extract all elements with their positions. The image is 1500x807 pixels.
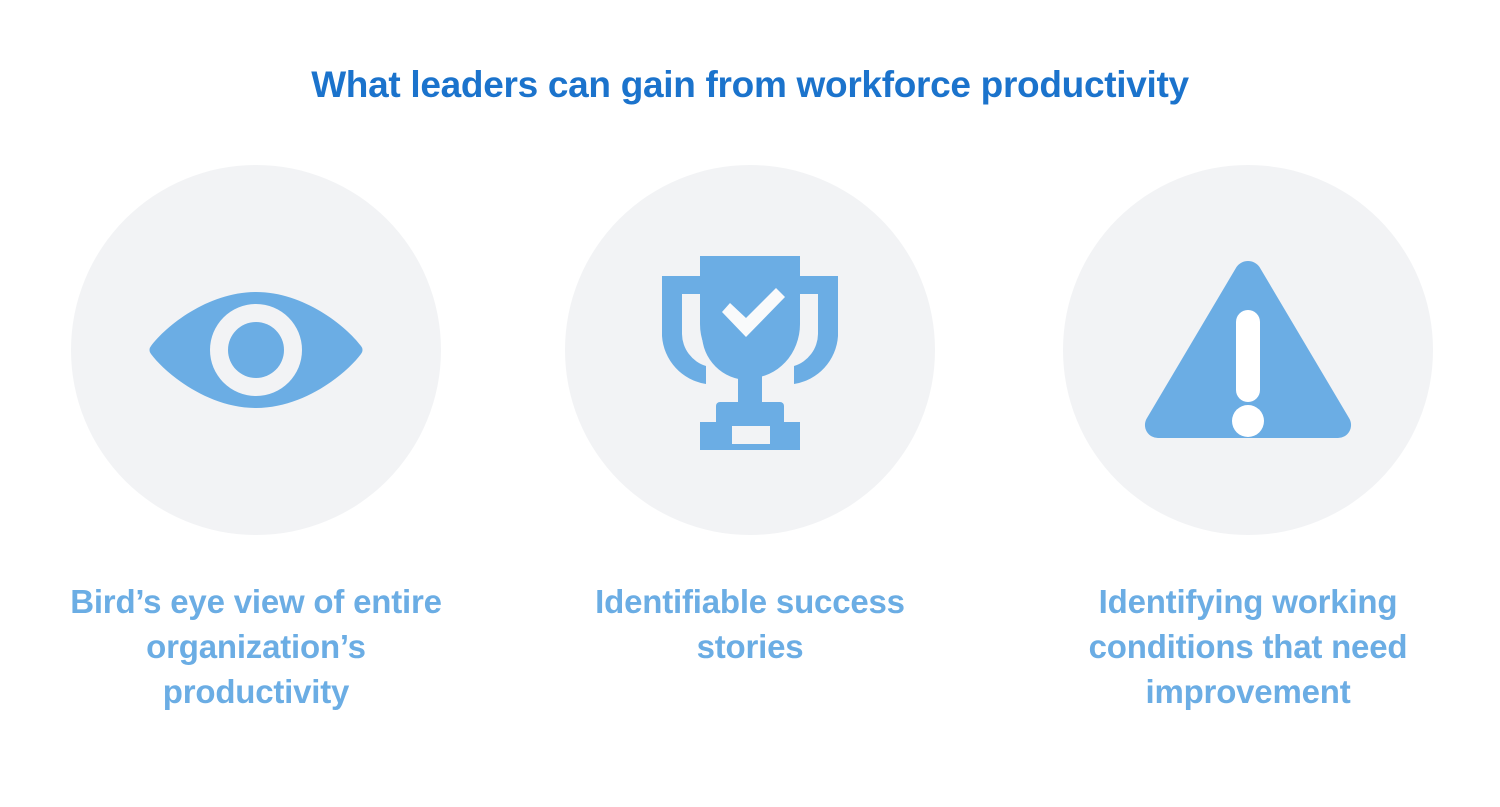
benefit-card-caption: Bird’s eye view of entire organization’s… xyxy=(51,580,461,715)
infographic-page: What leaders can gain from workforce pro… xyxy=(0,0,1500,807)
icon-circle xyxy=(1063,165,1433,535)
benefit-card: Identifiable success stories xyxy=(530,165,970,670)
benefit-card-caption: Identifiable success stories xyxy=(585,580,915,670)
benefit-card: Bird’s eye view of entire organization’s… xyxy=(36,165,476,715)
eye-icon xyxy=(148,290,364,410)
trophy-check-icon xyxy=(656,250,844,450)
icon-circle xyxy=(71,165,441,535)
benefit-card: Identifying working conditions that need… xyxy=(1028,165,1468,715)
benefit-card-row: Bird’s eye view of entire organization’s… xyxy=(0,165,1500,765)
page-title: What leaders can gain from workforce pro… xyxy=(0,63,1500,107)
benefit-card-caption: Identifying working conditions that need… xyxy=(1038,580,1458,715)
icon-circle xyxy=(565,165,935,535)
warning-triangle-icon xyxy=(1143,258,1353,442)
